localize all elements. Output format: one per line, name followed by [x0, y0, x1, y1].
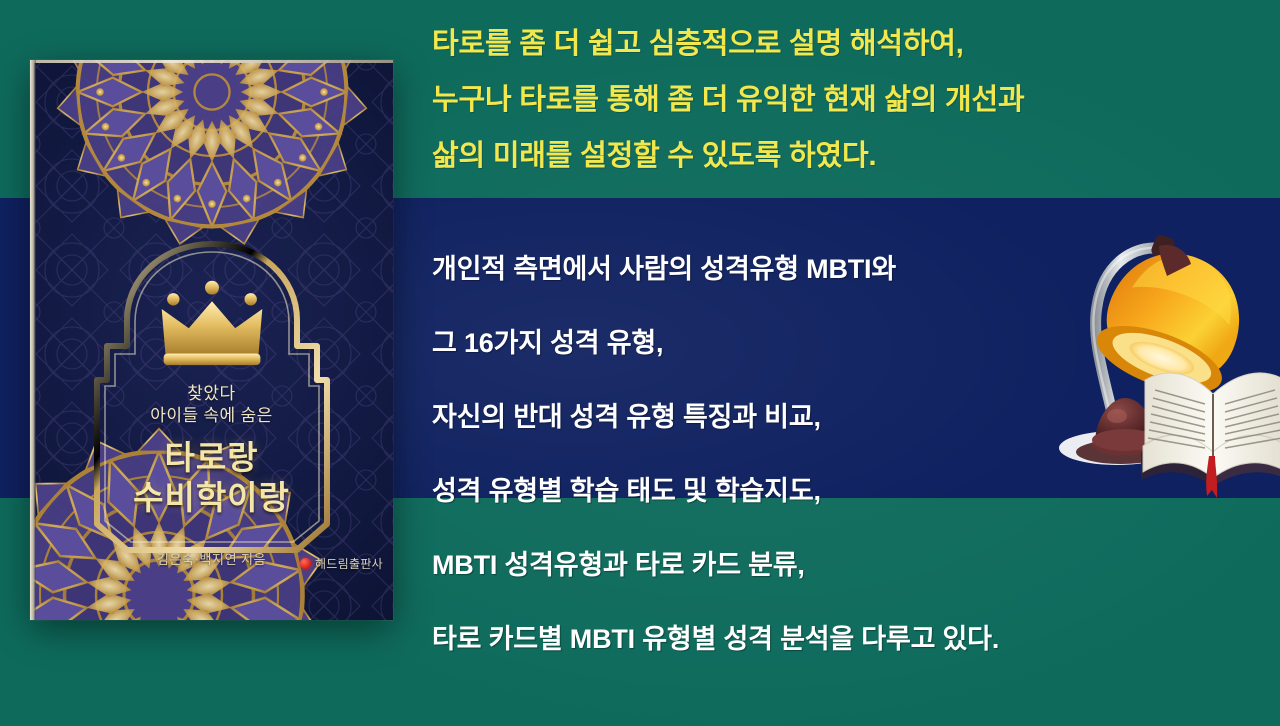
open-book-icon: [1135, 360, 1280, 500]
publisher-mark-icon: [300, 558, 311, 569]
cover-title-line2: 수비학이랑: [133, 479, 290, 519]
publisher-name: 해드림출판사: [315, 555, 383, 572]
body-line-5: MBTI 성격유형과 타로 카드 분류,: [432, 528, 1262, 602]
headline-line-2: 누구나 타로를 통해 좀 더 유익한 현재 삶의 개선과: [432, 72, 1262, 128]
mandala-top-icon: [52, 60, 372, 252]
cover-subtitle-line2: 아이들 속에 숨은: [150, 405, 272, 427]
headline-line-3: 삶의 미래를 설정할 수 있도록 하였다.: [432, 128, 1262, 184]
slide-canvas: 찾았다 아이들 속에 숨은 타로랑 수비학이랑 김은숙·백지연 지음 해드림출판…: [0, 0, 1280, 726]
cover-spine-edge: [30, 60, 36, 620]
cover-title-line1: 타로랑: [164, 439, 258, 479]
body-line-6: 타로 카드별 MBTI 유형별 성격 분석을 다루고 있다.: [432, 602, 1262, 676]
headline-block: 타로를 좀 더 쉽고 심층적으로 설명 해석하여, 누구나 타로를 통해 좀 더…: [432, 16, 1262, 184]
book-cover: 찾았다 아이들 속에 숨은 타로랑 수비학이랑 김은숙·백지연 지음 해드림출판…: [30, 60, 393, 620]
cover-subtitle-line1: 찾았다: [187, 383, 235, 405]
cover-cartouche: 찾았다 아이들 속에 숨은 타로랑 수비학이랑 김은숙·백지연 지음: [91, 238, 333, 568]
open-book-illustration: [1135, 360, 1280, 500]
cover-top-edge: [30, 60, 393, 63]
cover-authors: 김은숙·백지연 지음: [157, 549, 266, 568]
crown-icon: [91, 278, 333, 367]
headline-line-1: 타로를 좀 더 쉽고 심층적으로 설명 해석하여,: [432, 16, 1262, 72]
publisher-logo: 해드림출판사: [300, 555, 383, 572]
